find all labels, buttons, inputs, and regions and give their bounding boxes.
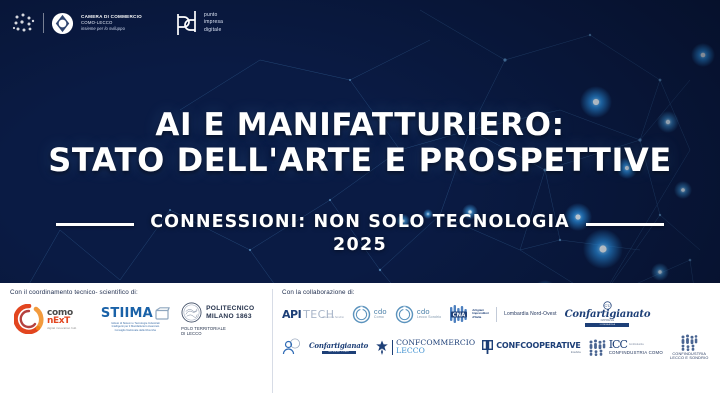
- cdo-lecco-sondrio-logo: cdo Lecco Sondrio: [395, 305, 441, 324]
- logo-divider: [43, 13, 44, 33]
- confcooperative-word: CONFCOOPERATIVE: [496, 341, 580, 350]
- confartigianato-sub: IMPRESE: [601, 319, 615, 322]
- confindustria-como-logo: ICC Confindustria CONFINDUSTRIA COMO: [588, 339, 663, 356]
- network-dots-icon: [12, 11, 36, 35]
- api-tech-logo: API TECH di Lecco e Sondrio: [282, 308, 344, 321]
- cna-logo: CNA Artigiani Imprenditori d'Italia Lomb…: [449, 305, 556, 324]
- person-circle-icon: [282, 338, 306, 356]
- pid-line2: impresa: [204, 20, 223, 25]
- confartigianato-bar: LOMBARDIA: [600, 324, 616, 326]
- collaboration-label: Con la collaborazione di:: [282, 289, 712, 296]
- footer-partners-band: Con il coordinamento tecnico- scientific…: [0, 283, 720, 405]
- confcommercio-star-icon: [375, 340, 389, 355]
- confartigianato-como-word: Confartigianato: [309, 341, 368, 350]
- apitech-bold: API: [282, 308, 301, 321]
- rule-right: [586, 223, 664, 226]
- politecnico-milano-logo: POLITECNICO MILANO 1863 POLO TERRITORIAL…: [181, 302, 264, 336]
- hero-title-block: AI E MANIFATTURIERO: STATO DELL'ARTE E P…: [0, 108, 720, 179]
- confcommercio-divider: [392, 340, 393, 355]
- comonext-logo: como nExT digital innovation hub: [14, 304, 90, 334]
- header-logos: CAMERA DI COMMERCIO COMO-LECCO insieme p…: [12, 8, 223, 38]
- confcooperative-flag-icon: [482, 340, 493, 354]
- subtitle-line-1: CONNESSIONI: NON SOLO TECNOLOGIA: [150, 212, 570, 232]
- rule-left: [56, 223, 134, 226]
- cdo-ring-icon: [352, 305, 371, 324]
- cna-divider: [496, 307, 497, 322]
- confindustria-crowd-icon: [680, 334, 698, 351]
- collaboration-column: Con la collaborazione di: API TECH di Le…: [272, 283, 720, 405]
- pid-line3: digitale: [204, 28, 223, 33]
- cdo-como-sub: Como: [374, 316, 387, 320]
- stiima-sub2: Intelligenti per il Manifatturiero Avanz…: [112, 325, 160, 328]
- title-line-2: STATO DELL'ARTE E PROSPETTIVE: [0, 143, 720, 179]
- stiima-word: STIIMA: [101, 306, 153, 321]
- coordination-column: Con il coordinamento tecnico- scientific…: [0, 283, 272, 405]
- confindustria-como-small: Confindustria: [629, 344, 644, 347]
- collaboration-row-2: Confartigianato IMPRESE COMO: [282, 334, 712, 361]
- title-line-1: AI E MANIFATTURIERO:: [0, 108, 720, 143]
- apitech-light: TECH: [303, 308, 334, 321]
- confcooperative-logo: CONFCOOPERATIVE Insubria: [482, 340, 580, 354]
- punto-impresa-digitale-logo: punto impresa digitale: [174, 8, 223, 38]
- confindustria-como-word: CONFINDUSTRIA COMO: [609, 351, 663, 356]
- cciaa-line2: COMO-LECCO: [81, 21, 142, 26]
- camera-di-commercio-logo: CAMERA DI COMMERCIO COMO-LECCO insieme p…: [12, 11, 142, 35]
- collaboration-row-1: API TECH di Lecco e Sondrio cdo Como: [282, 301, 712, 327]
- confindustria-lecco-sondrio-logo: CONFINDUSTRIA LECCO E SONDRIO: [670, 334, 708, 361]
- comonext-word-b: nExT: [47, 317, 76, 326]
- comonext-tagline: digital innovation hub: [47, 327, 76, 330]
- stiima-box-icon: [155, 307, 170, 320]
- polimi-line2: MILANO 1863: [206, 313, 254, 320]
- polimi-sub2: DI LECCO: [181, 331, 202, 336]
- coordination-label: Con il coordinamento tecnico- scientific…: [10, 289, 264, 296]
- confindustria-crowd-icon: [588, 339, 606, 356]
- apitech-sub: di Lecco e Sondrio: [322, 316, 344, 319]
- presentation-slide: CAMERA DI COMMERCIO COMO-LECCO insieme p…: [0, 0, 720, 405]
- confindustria-lecco-line2: LECCO E SONDRIO: [670, 356, 708, 360]
- svg-text:CU: CU: [604, 303, 611, 308]
- confartigianato-lombardia-logo: CU Confartigianato IMPRESE LOMBARDIA: [565, 301, 651, 327]
- cdo-ring-icon: [395, 305, 414, 324]
- cna-globe-icon: CNA: [449, 305, 469, 324]
- stiima-logo: STIIMA Istituto di Sistemi e Tecnologie …: [96, 306, 175, 333]
- confcommercio-line2: LECCO: [396, 347, 475, 355]
- polimi-line1: POLITECNICO: [206, 305, 254, 312]
- cdo-lecco-sub: Lecco Sondrio: [417, 316, 441, 320]
- cna-sub3: d'Italia: [472, 316, 489, 319]
- cdo-como-logo: cdo Como: [352, 305, 387, 324]
- chamber-of-commerce-badge-icon: [51, 12, 74, 35]
- comonext-ring-icon: [14, 304, 44, 334]
- polimi-seal-icon: [181, 302, 202, 323]
- confartigianato-como-logo: Confartigianato IMPRESE COMO: [282, 338, 368, 356]
- confartigianato-como-sub: IMPRESE COMO: [328, 351, 349, 353]
- svg-text:CNA: CNA: [453, 312, 466, 318]
- confcooperative-sub: Insubria: [571, 350, 581, 354]
- cna-region: Lombardia Nord-Ovest: [504, 311, 557, 317]
- subtitle-year: 2025: [150, 235, 570, 255]
- confcommercio-lecco-logo: CONFCOMMERCIO LECCO: [375, 339, 475, 355]
- hero-subtitle-block: CONNESSIONI: NON SOLO TECNOLOGIA 2025: [0, 212, 720, 255]
- cciaa-line3: insieme per lo sviluppo: [81, 27, 142, 31]
- stiima-sub3: Consiglio Nazionale delle Ricerche: [115, 329, 157, 332]
- pid-line1: punto: [204, 13, 223, 18]
- pid-monogram-icon: [174, 8, 200, 38]
